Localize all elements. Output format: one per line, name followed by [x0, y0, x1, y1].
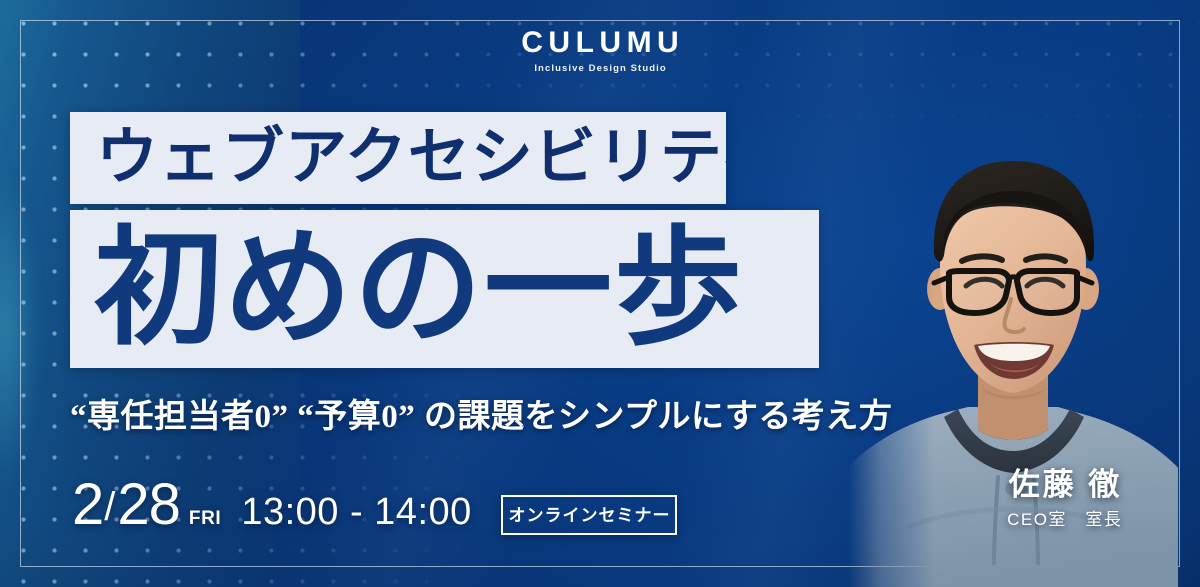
schedule-day-of-week: FRI [189, 509, 221, 528]
speaker-name: 佐藤 徹 [956, 468, 1172, 502]
online-seminar-badge-label: オンラインセミナー [508, 507, 671, 524]
culumu-logo: CULUMU Inclusive Design Studio [0, 28, 1200, 74]
speaker-caption: 佐藤 徹 CEO室 室長 [956, 468, 1172, 528]
headline-panel-primary: ウェブアクセシビリティ [70, 112, 726, 204]
logo-wordmark: CULUMU [0, 28, 1200, 58]
schedule-day: 28 [117, 476, 180, 534]
headline-panel-secondary: 初めの一歩 [70, 210, 819, 368]
headline-line-2: 初めの一歩 [94, 225, 744, 353]
speaker-title: CEO室 室長 [956, 511, 1172, 528]
headline-line-1: ウェブアクセシビリティ [96, 127, 726, 189]
schedule-separator: / [104, 487, 115, 527]
schedule-time: 13:00 - 14:00 [241, 493, 471, 531]
logo-tagline: Inclusive Design Studio [0, 64, 1200, 74]
subtitle-text: “専任担当者0” “予算0” の課題をシンプルにする考え方 [70, 398, 870, 438]
webinar-banner: CULUMU Inclusive Design Studio ウェブアクセシビリ… [0, 0, 1200, 587]
schedule-row: 2 / 28 FRI 13:00 - 14:00 [72, 476, 472, 534]
schedule-month: 2 [72, 476, 103, 534]
online-seminar-badge: オンラインセミナー [501, 495, 677, 535]
